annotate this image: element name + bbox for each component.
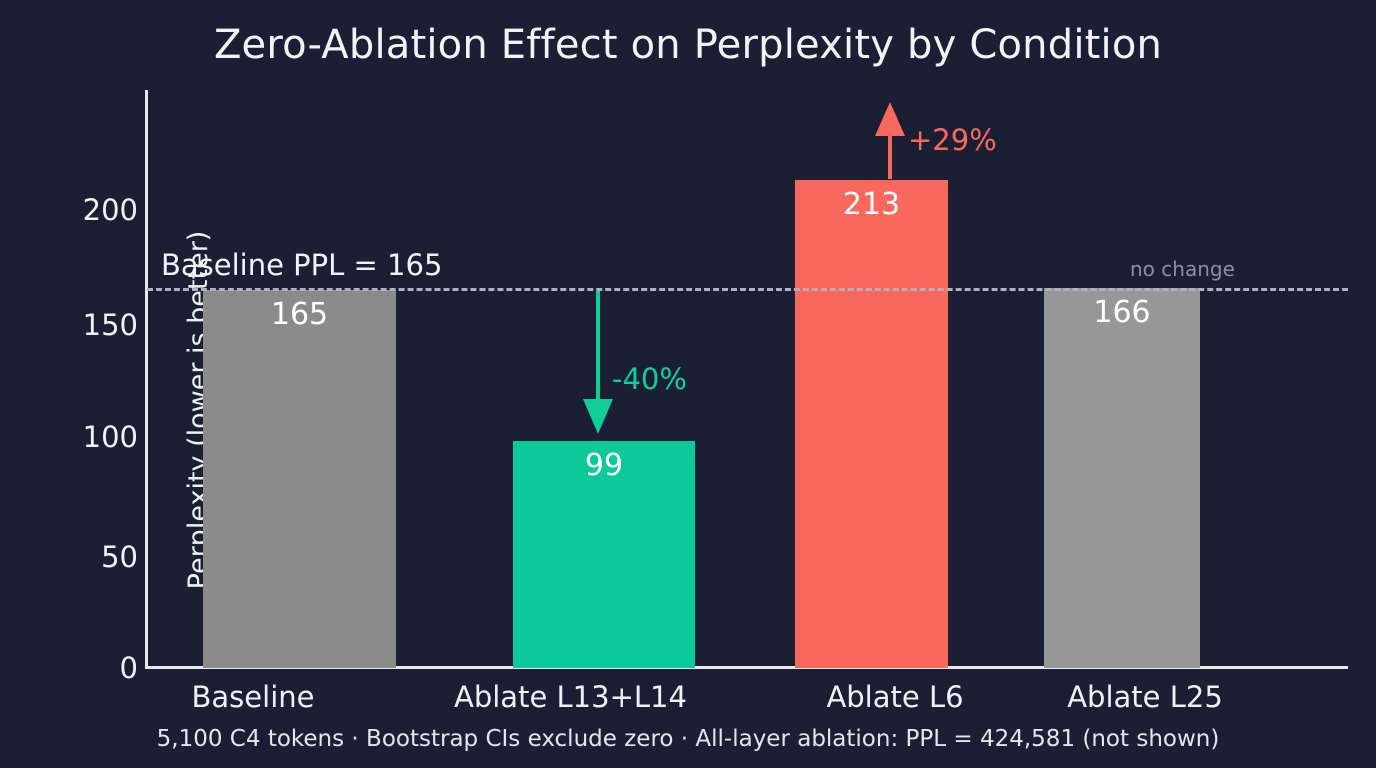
x-tick-ablate-l25: Ablate L25	[1045, 680, 1245, 714]
y-tick-150: 150	[40, 311, 138, 340]
delta-label-ablate-l6: +29%	[908, 123, 997, 157]
bar-value-baseline: 165	[203, 298, 396, 333]
baseline-reference-label: Baseline PPL = 165	[161, 248, 442, 282]
y-tick-50: 50	[40, 543, 138, 572]
y-tick-0: 0	[40, 654, 138, 683]
y-axis-label-wrapper: Perplexity (lower is better)	[24, 150, 64, 670]
x-tick-baseline: Baseline	[153, 680, 353, 714]
chart-figure: Zero-Ablation Effect on Perplexity by Co…	[0, 0, 1376, 768]
bar-ablate-l25[interactable]: 166	[1044, 288, 1200, 668]
chart-title: Zero-Ablation Effect on Perplexity by Co…	[0, 22, 1376, 68]
y-tick-100: 100	[40, 423, 138, 452]
x-tick-ablate-l6: Ablate L6	[795, 680, 995, 714]
no-change-annotation: no change	[1130, 257, 1235, 281]
bar-baseline[interactable]: 165	[203, 290, 396, 668]
x-tick-ablate-l13-l14: Ablate L13+L14	[454, 680, 654, 714]
plot-area: 165 99 213 166	[147, 90, 1348, 668]
bar-value-ablate-l25: 166	[1044, 296, 1200, 331]
bar-ablate-l6[interactable]: 213	[795, 180, 948, 668]
bar-ablate-l13-l14[interactable]: 99	[513, 441, 695, 668]
chart-footnote: 5,100 C4 tokens · Bootstrap CIs exclude …	[0, 726, 1376, 752]
bar-value-ablate-l13-l14: 99	[513, 449, 695, 484]
y-tick-200: 200	[40, 196, 138, 225]
baseline-reference-line	[147, 288, 1348, 291]
delta-label-ablate-l13-l14: -40%	[612, 362, 687, 396]
bar-value-ablate-l6: 213	[795, 188, 948, 223]
